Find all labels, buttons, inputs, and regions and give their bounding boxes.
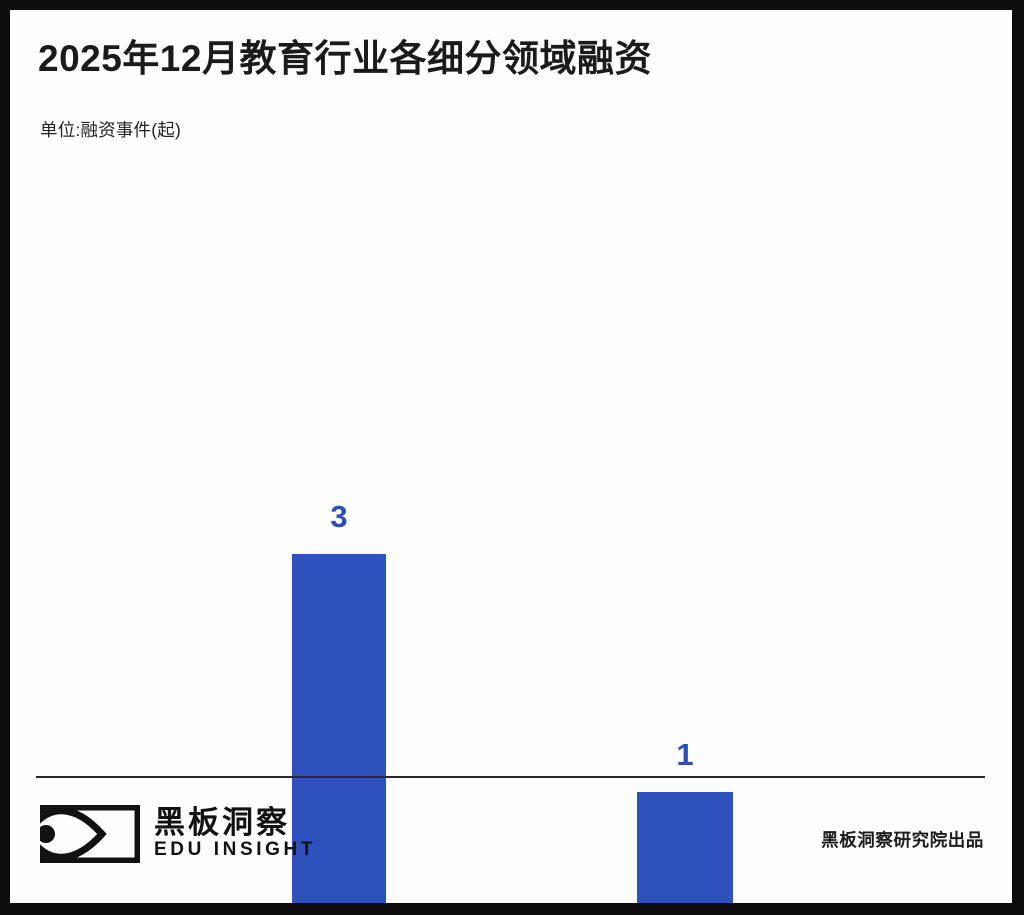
publisher-credit: 黑板洞察研究院出品: [821, 827, 984, 852]
poster-frame: 2025年12月教育行业各细分领域融资 单位:融资事件(起) 3 职业教育 1 …: [0, 0, 1024, 915]
bar-value-label-1: 3: [292, 501, 386, 532]
brand-logo[interactable]: 黑板洞察 EDU INSIGHT: [40, 805, 316, 863]
brand-name-en: EDU INSIGHT: [154, 839, 316, 862]
poster-canvas: 2025年12月教育行业各细分领域融资 单位:融资事件(起) 3 职业教育 1 …: [10, 10, 1012, 903]
bar-value-label-2: 1: [637, 739, 733, 770]
bar-chart-plot-area: 3 职业教育 1 教育综合服务: [10, 10, 1012, 903]
footer: 黑板洞察 EDU INSIGHT 黑板洞察研究院出品: [10, 795, 1012, 895]
brand-logo-text: 黑板洞察 EDU INSIGHT: [154, 806, 316, 862]
footer-divider: [36, 776, 985, 778]
eye-in-rectangle-logo-icon: [40, 805, 140, 863]
brand-name-cn: 黑板洞察: [154, 806, 316, 839]
